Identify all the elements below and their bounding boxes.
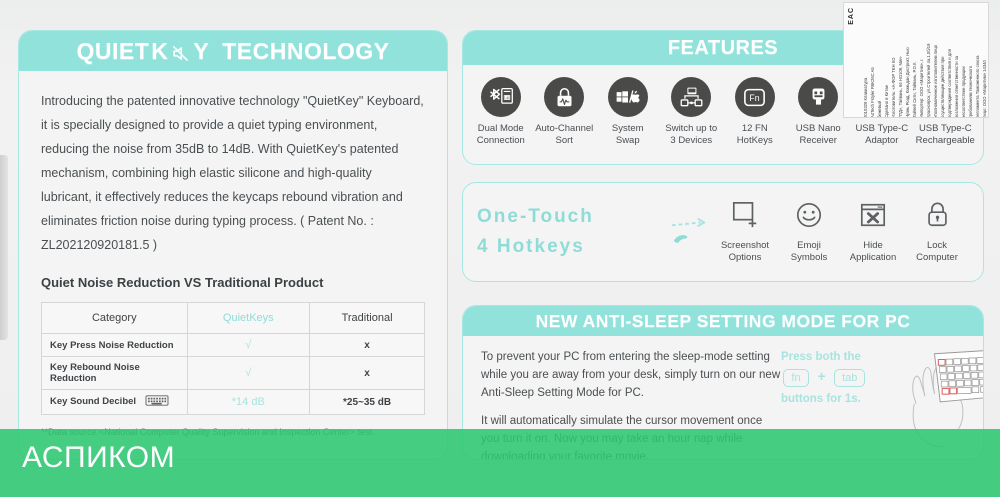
feature-item-auto-channel: Auto-ChannelSort xyxy=(533,77,597,147)
muted-speaker-icon xyxy=(171,42,190,61)
table-header-row: Category QuietKeys Traditional xyxy=(42,303,425,334)
regulatory-line: Красноярск ул.Строителей 4а,1,0б/19 xyxy=(988,6,989,118)
feature-item-switch-devices: Switch up to3 Devices xyxy=(660,77,724,147)
col-header-quietkeys: QuietKeys xyxy=(187,303,310,334)
one-touch-inner: One-Touch 4 Hotkeys xyxy=(463,183,983,281)
regulatory-line: Чуэнь Роад, Комьдан Дистрикт, Нью xyxy=(904,6,911,118)
feature-item-system-swap: SystemSwap xyxy=(596,77,660,147)
cell-quietkeys: √ xyxy=(187,334,310,357)
regulatory-line: 2010329 Клавиатура xyxy=(862,6,869,118)
feature-label: USB Type-CRechargeable xyxy=(916,123,975,147)
hotkey-label: LockComputer xyxy=(916,240,958,264)
padlock-icon xyxy=(925,201,950,234)
title-k: K xyxy=(151,38,168,65)
cell-category: Key Rebound Noise Reduction xyxy=(42,357,188,390)
usb-nano-dongle-icon xyxy=(798,77,838,117)
quietkey-card-header: QUIETKY TECHNOLOGY xyxy=(19,31,447,71)
title-y: Y xyxy=(193,38,209,65)
hotkey-item-hide-app: HideApplication xyxy=(841,201,905,264)
regulatory-line: требованиям технического xyxy=(967,6,974,118)
keycap-tab: tab xyxy=(834,369,865,387)
regulatory-line: Уполномоченное изготовителем лицо xyxy=(932,6,939,118)
hotkey-item-screenshot: ScreenshotOptions xyxy=(713,201,777,264)
comparison-subtitle: Quiet Noise Reduction VS Traditional Pro… xyxy=(41,275,425,290)
hotkey-label: ScreenshotOptions xyxy=(721,240,769,264)
feature-label: 12 FNHotKeys xyxy=(737,123,773,147)
screenshot-crop-icon xyxy=(731,201,759,234)
one-touch-title-line2: 4 Hotkeys xyxy=(477,232,667,262)
dashed-arrow-hand-icon xyxy=(667,212,713,252)
svg-text:Fn: Fn xyxy=(750,93,760,103)
russian-regulatory-label: EAC 2010329 Клавиатура A4Tech Fstyler FB… xyxy=(843,2,989,118)
product-packaging-photo: QUIETKY TECHNOLOGY Introducing the paten… xyxy=(0,0,1000,497)
feature-label: Switch up to3 Devices xyxy=(665,123,717,147)
quietkey-technology-card: QUIETKY TECHNOLOGY Introducing the paten… xyxy=(18,30,448,460)
table-row: Key Sound Decibel *14 dB *25~35 dB xyxy=(42,390,425,415)
regulatory-line: A4Tech Fstyler FBK26C A5 xyxy=(869,6,876,118)
col-header-category: Category xyxy=(42,303,188,334)
multi-device-icon xyxy=(671,77,711,117)
feature-item-dual-mode: 2.4G Dual ModeConnection xyxy=(469,77,533,147)
table-row: Key Press Noise Reduction √ x xyxy=(42,334,425,357)
feature-label: USB Type-CAdaptor xyxy=(855,123,908,147)
title-quiet: QUIET xyxy=(76,38,149,65)
regulatory-line: ЛТД», Тайвань, 66 НО109, Мин- xyxy=(897,6,904,118)
keyboard-icon xyxy=(144,395,170,409)
feature-item-fn-hotkeys: Fn 12 FNHotKeys xyxy=(723,77,787,147)
feature-label: Auto-ChannelSort xyxy=(535,123,593,147)
feature-item-usb-nano: USB NanoReceiver xyxy=(787,77,851,147)
regulatory-text-block: 2010329 Клавиатура A4Tech Fstyler FBK26C… xyxy=(862,6,989,118)
windows-apple-icon xyxy=(608,77,648,117)
quietkey-description: Introducing the patented innovative tech… xyxy=(41,89,425,257)
svg-text:2.4G: 2.4G xyxy=(503,96,511,100)
plus-sign: + xyxy=(817,368,825,384)
feature-label: USB NanoReceiver xyxy=(796,123,841,147)
regulatory-line: лицо: ООО «Маритим» 14340 xyxy=(981,6,988,118)
hide-window-x-icon xyxy=(859,201,887,234)
cell-traditional: x xyxy=(310,357,425,390)
one-touch-hotkeys-card: One-Touch 4 Hotkeys xyxy=(462,182,984,282)
regulatory-line: Тайпей Сити, Тайвань, Р.О.К. xyxy=(911,6,918,118)
one-touch-title-line1: One-Touch xyxy=(477,202,667,232)
one-touch-title: One-Touch 4 Hotkeys xyxy=(477,202,667,262)
cell-category: Key Press Noise Reduction xyxy=(42,334,188,357)
feature-label: Dual ModeConnection xyxy=(477,123,525,147)
regulatory-line: Сделано в Китае xyxy=(883,6,890,118)
feature-label: SystemSwap xyxy=(612,123,644,147)
bluetooth-24g-icon: 2.4G xyxy=(481,77,521,117)
col-header-traditional: Traditional xyxy=(310,303,425,334)
cell-category-with-icon: Key Sound Decibel xyxy=(42,390,188,415)
hotkey-label: HideApplication xyxy=(850,240,896,264)
hotkey-item-lock: LockComputer xyxy=(905,201,969,264)
keycap-fn: fn xyxy=(783,369,809,387)
title-technology: TECHNOLOGY xyxy=(222,38,389,65)
cell-traditional: *25~35 dB xyxy=(310,390,425,415)
cell-category-label: Key Sound Decibel xyxy=(50,396,136,407)
regulatory-line: Красноярск, ул.Строителей 4а,1,0б/19 xyxy=(925,6,932,118)
regulatory-line: осуществляющее действия при xyxy=(939,6,946,118)
watermark-text: АСПИКОМ xyxy=(22,441,175,475)
regulatory-line: регламента Таможенного союза xyxy=(974,6,981,118)
cell-quietkeys: √ xyxy=(187,357,310,390)
anti-sleep-card-header: NEW ANTI-SLEEP SETTING MODE FOR PC xyxy=(463,306,983,336)
quietkey-card-body: Introducing the patented innovative tech… xyxy=(19,71,447,447)
padlock-waveform-icon xyxy=(544,77,584,117)
eac-conformity-mark: EAC xyxy=(848,7,855,25)
hotkey-item-emoji: EmojiSymbols xyxy=(777,201,841,264)
cell-traditional: x xyxy=(310,334,425,357)
hotkey-label: EmojiSymbols xyxy=(791,240,827,264)
box-edge-highlight xyxy=(0,155,8,340)
anti-sleep-paragraph-1: To prevent your PC from entering the sle… xyxy=(481,348,781,402)
table-row: Key Rebound Noise Reduction √ x xyxy=(42,357,425,390)
comparison-table: Category QuietKeys Traditional Key Press… xyxy=(41,302,425,415)
smiley-emoji-icon xyxy=(795,201,823,234)
regulatory-line: Изготовитель: «А-ФОР ТЕН КО xyxy=(890,6,897,118)
regulatory-line: Импортер: ООО «Маритим», г. xyxy=(918,6,925,118)
fn-key-icon: Fn xyxy=(735,77,775,117)
one-touch-items: ScreenshotOptions EmojiSymbols xyxy=(713,201,969,264)
regulatory-line: бежевый xyxy=(876,6,883,118)
regulatory-line: подтверждения соответствия и для xyxy=(946,6,953,118)
regulatory-line: несоответствие продукции xyxy=(960,6,967,118)
regulatory-line: возложения ответственности за xyxy=(953,6,960,118)
cell-quietkeys: *14 dB xyxy=(187,390,310,415)
